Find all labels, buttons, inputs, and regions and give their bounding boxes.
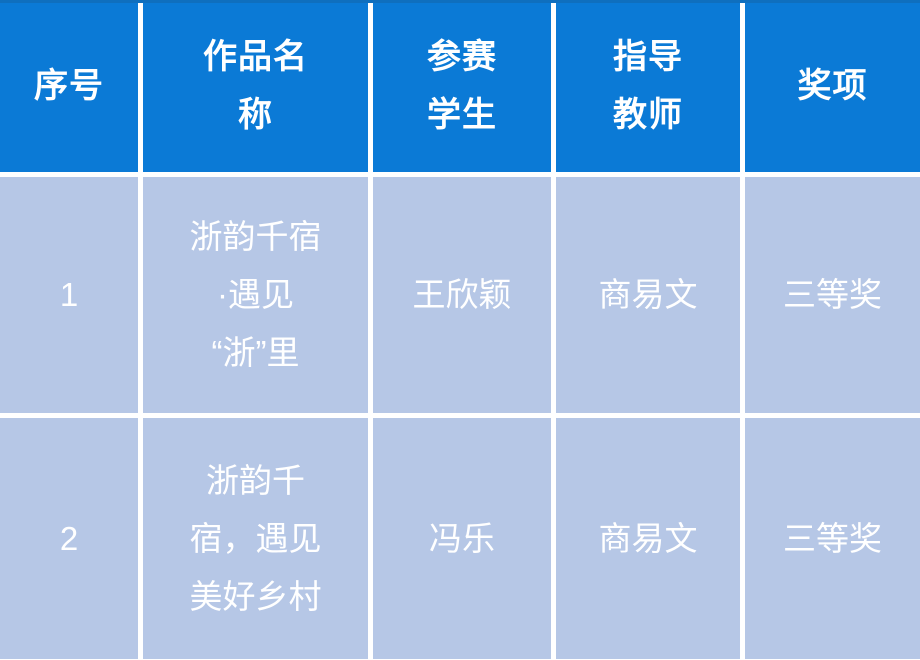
cell-student: 冯乐 xyxy=(373,418,556,659)
column-header-teacher: 指导 教师 xyxy=(556,0,745,177)
cell-work-name-line-3: 美好乡村 xyxy=(151,568,360,626)
column-header-award: 奖项 xyxy=(745,0,920,177)
column-header-student: 参赛 学生 xyxy=(373,0,556,177)
cell-work-name: 浙韵千 宿，遇见 美好乡村 xyxy=(143,418,373,659)
column-header-work-name-line-2: 称 xyxy=(149,86,362,144)
cell-work-name-line-1: 浙韵千宿 xyxy=(151,208,360,266)
cell-work-name-line-2: 宿，遇见 xyxy=(151,510,360,568)
cell-student: 王欣颖 xyxy=(373,177,556,418)
cell-teacher: 商易文 xyxy=(556,177,745,418)
column-header-teacher-line-1: 指导 xyxy=(562,28,734,86)
column-header-teacher-line-2: 教师 xyxy=(562,86,734,144)
cell-work-name-line-1: 浙韵千 xyxy=(151,452,360,510)
table-header: 序号 作品名 称 参赛 学生 指导 教师 奖项 xyxy=(0,0,920,177)
table-top-edge xyxy=(0,0,920,3)
cell-teacher: 商易文 xyxy=(556,418,745,659)
awards-table-container: 序号 作品名 称 参赛 学生 指导 教师 奖项 xyxy=(0,0,920,660)
table-header-row: 序号 作品名 称 参赛 学生 指导 教师 奖项 xyxy=(0,0,920,177)
column-header-student-line-1: 参赛 xyxy=(379,28,545,86)
cell-index: 1 xyxy=(0,177,143,418)
cell-award: 三等奖 xyxy=(745,418,920,659)
column-header-work-name: 作品名 称 xyxy=(143,0,373,177)
cell-index: 2 xyxy=(0,418,143,659)
cell-award: 三等奖 xyxy=(745,177,920,418)
column-header-award-line-1: 奖项 xyxy=(751,57,914,115)
column-header-index: 序号 xyxy=(0,0,143,177)
cell-work-name: 浙韵千宿 ·遇见 “浙”里 xyxy=(143,177,373,418)
table-row: 2 浙韵千 宿，遇见 美好乡村 冯乐 商易文 三等奖 xyxy=(0,418,920,659)
cell-work-name-line-3: “浙”里 xyxy=(151,324,360,382)
column-header-student-line-2: 学生 xyxy=(379,86,545,144)
column-header-index-line-1: 序号 xyxy=(6,57,132,115)
cell-work-name-line-2: ·遇见 xyxy=(151,266,360,324)
table-row: 1 浙韵千宿 ·遇见 “浙”里 王欣颖 商易文 三等奖 xyxy=(0,177,920,418)
column-header-work-name-line-1: 作品名 xyxy=(149,28,362,86)
awards-table: 序号 作品名 称 参赛 学生 指导 教师 奖项 xyxy=(0,0,920,659)
table-body: 1 浙韵千宿 ·遇见 “浙”里 王欣颖 商易文 三等奖 2 浙韵千 宿，遇见 美… xyxy=(0,177,920,659)
